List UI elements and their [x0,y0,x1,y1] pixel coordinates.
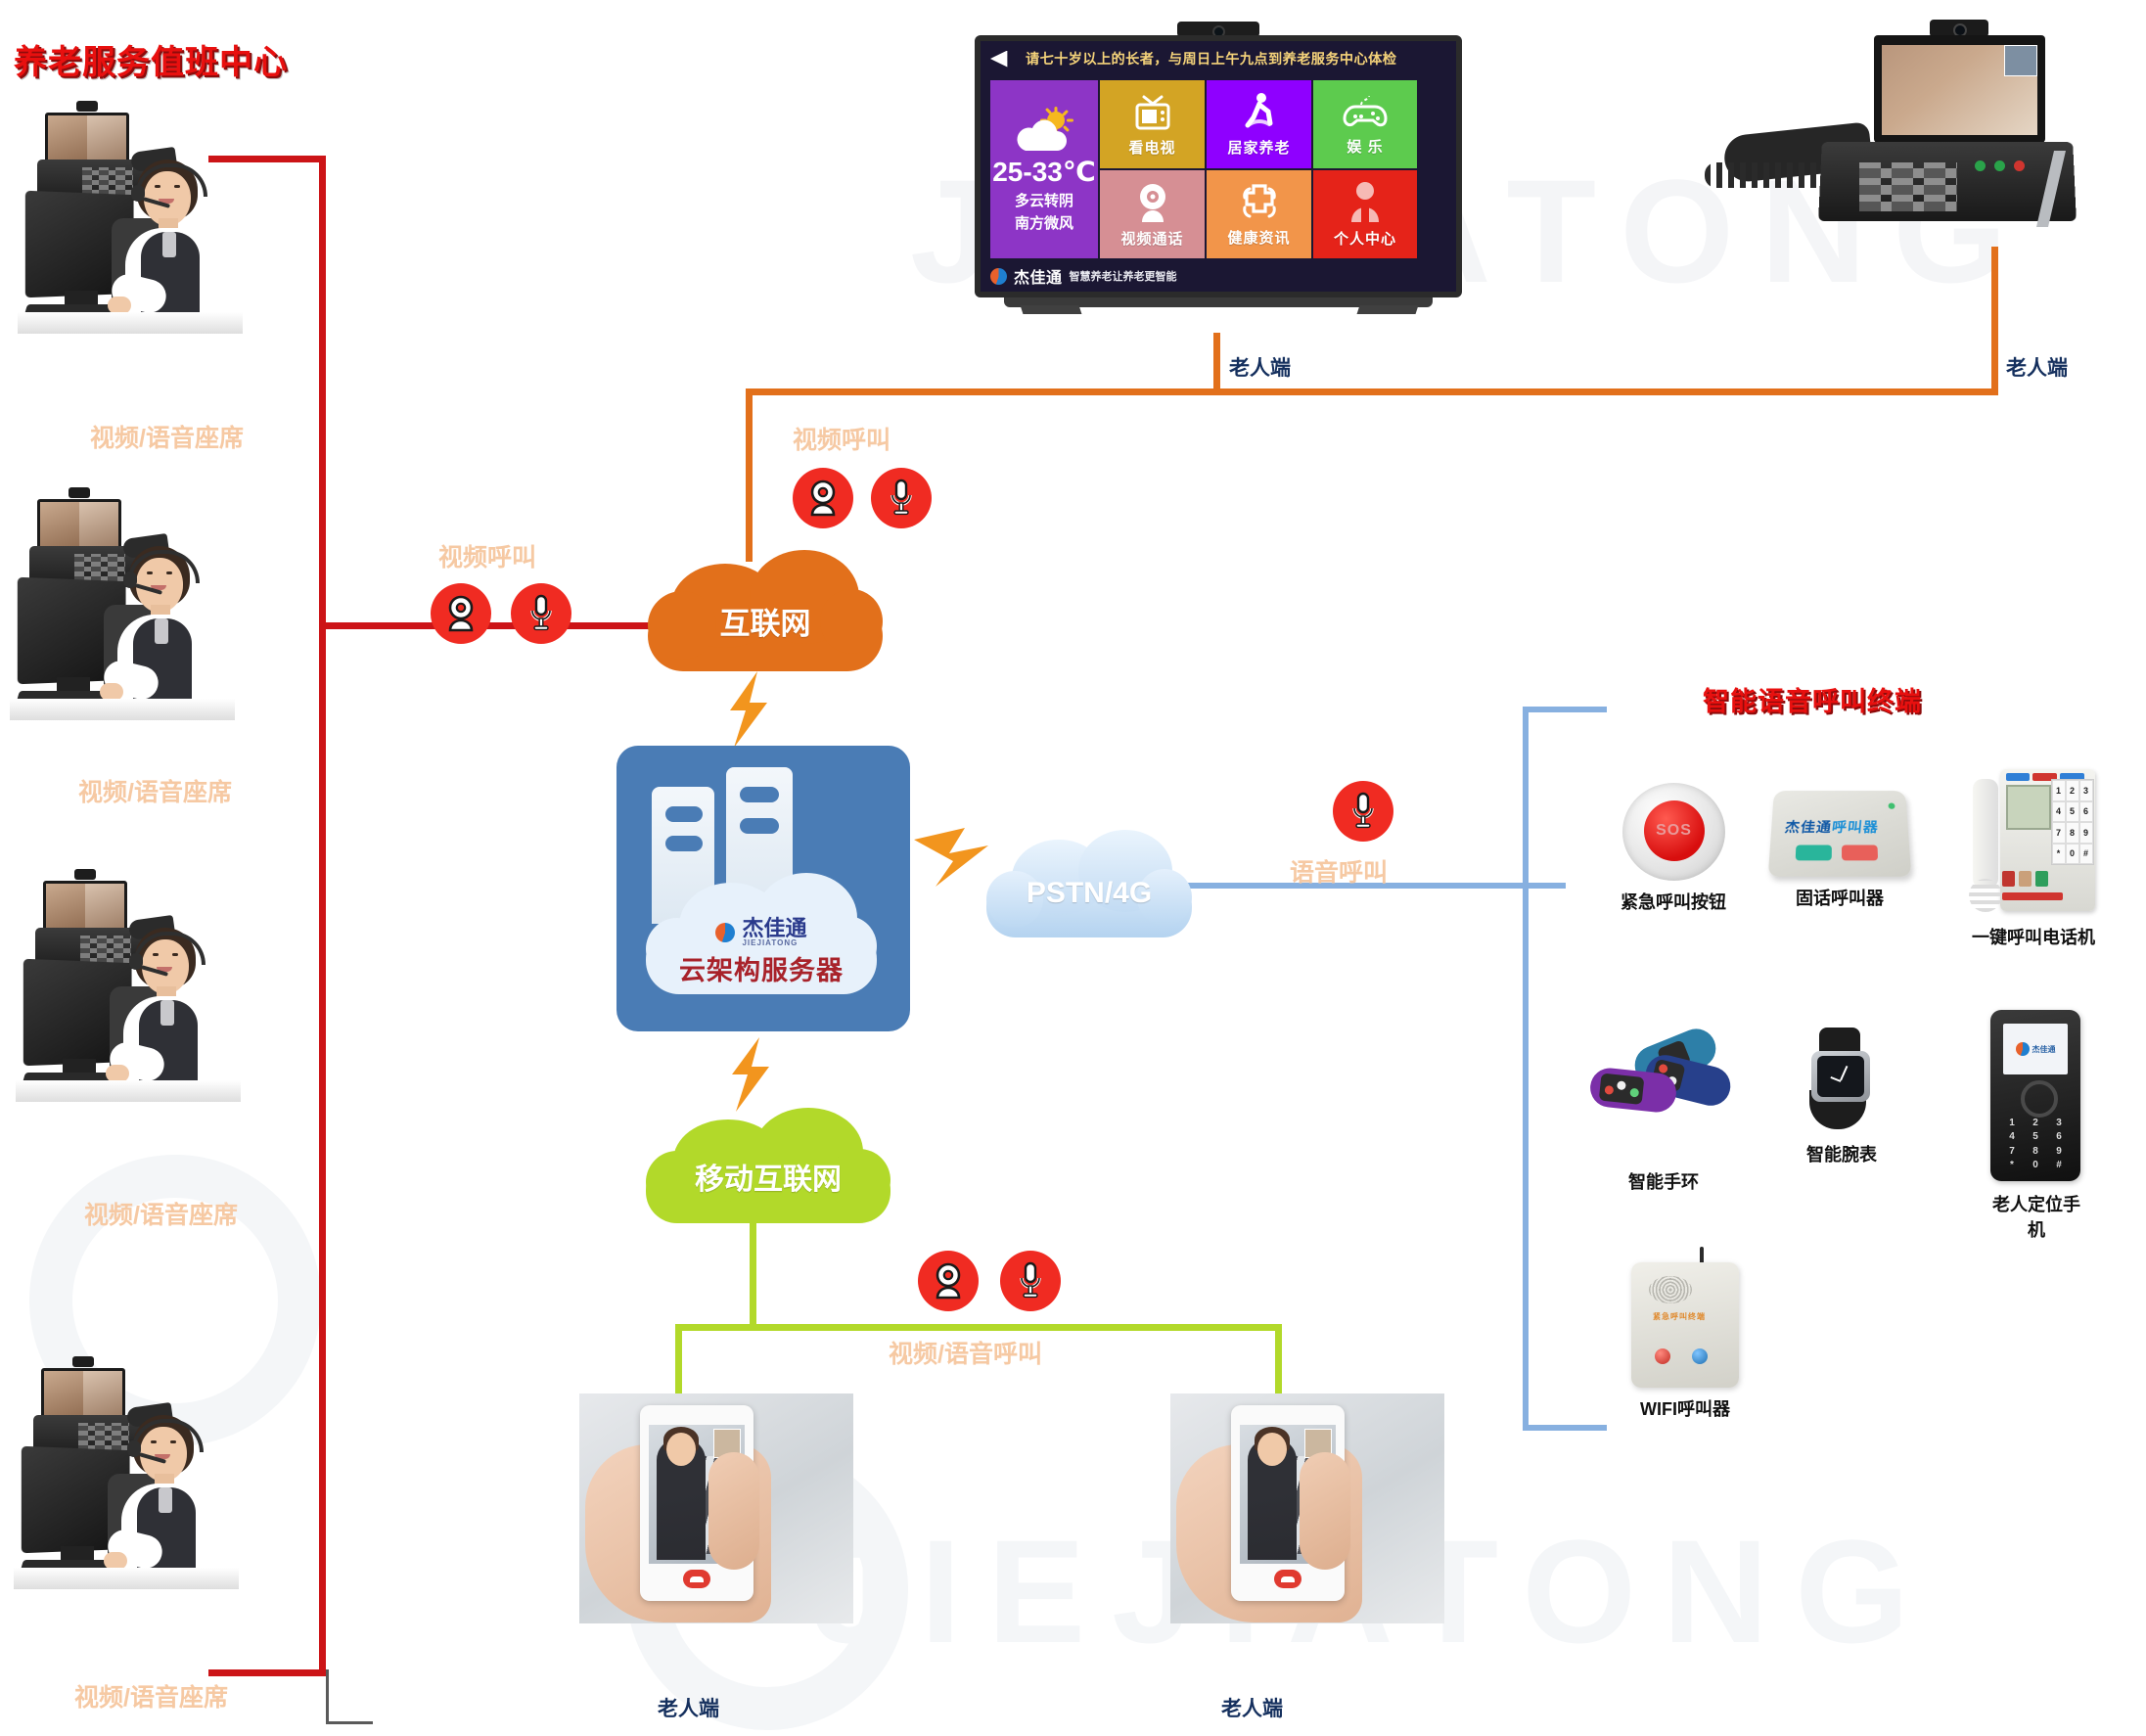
terminal-label: WIFI呼叫器 [1597,1395,1773,1421]
terminal-label: 紧急呼叫按钮 [1585,889,1761,914]
partly-cloudy-icon [1010,107,1078,154]
smart-watch-icon [1788,1028,1895,1135]
webcam-icon [931,1262,966,1300]
line-mobile-horizontal [675,1324,1282,1331]
tv-tile-weather[interactable]: 25-33℃ 多云转阴 南方微风 [990,80,1098,258]
microphone-badge-icon [511,583,571,644]
mobile-endpoint-photo [1170,1393,1444,1643]
line-seat-last-tick-foot [326,1721,373,1724]
terminal-senior-gps-phone[interactable]: 杰佳通 123456 789*0# 老人定位手机 [1973,1010,2100,1242]
voice-call-label: 语音呼叫 [1290,853,1388,889]
deskphone-endpoint-label: 老人端 [2006,352,2068,382]
agent-seat [18,103,243,352]
agent-seat-label: 视频/语音座席 [74,1678,228,1713]
agent-seat [16,871,241,1120]
terminal-label: 老人定位手机 [1987,1191,2085,1242]
line-terminals-bracket-top [1523,707,1607,712]
agent-seat-label: 视频/语音座席 [78,773,232,808]
line-seats-to-internet [319,622,681,629]
camera-icon [68,487,90,498]
microphone-icon [528,594,554,633]
mobile-endpoint-photo [579,1393,853,1643]
elderly-care-icon [1238,92,1281,133]
line-mobile-phone2-down [1275,1324,1282,1394]
health-cross-icon [1239,182,1280,223]
operator-avatar [106,928,241,1094]
microphone-badge-icon [1333,781,1393,842]
webcam-icon [1132,181,1173,224]
terminals-section-title: 智能语音呼叫终端 [1703,680,1922,718]
fixedline-caller-icon: 杰佳通呼叫器 [1768,791,1912,877]
video-phone-screen [1874,35,2045,143]
operator-avatar [100,546,235,712]
video-desk-phone [1712,14,2133,258]
tv-tile-label: 娱 乐 [1347,136,1383,157]
mobile-endpoint-label: 老人端 [658,1693,719,1722]
agent-seat-label: 视频/语音座席 [90,419,244,454]
weather-wind: 南方微风 [1015,212,1073,233]
microphone-icon [889,479,914,518]
one-key-phone-icon: 123456 789*0# [1973,769,2095,916]
tv-tile-label: 视频通话 [1120,228,1183,249]
lightning-bolt-icon [914,828,988,891]
terminal-emergency-button[interactable]: SOS 紧急呼叫按钮 [1585,783,1761,914]
tv-brand: 杰佳通 智慧养老让养老更智能 [990,264,1177,288]
microphone-badge-icon [1000,1251,1061,1311]
senior-gps-phone-icon: 杰佳通 123456 789*0# [1990,1010,2080,1181]
sos-button-icon: SOS [1622,783,1725,881]
video-voice-call-label: 视频/语音呼叫 [889,1335,1042,1370]
webcam-badge-icon [431,583,491,644]
gamepad-icon [1342,93,1389,132]
line-mobile-phone1-down [675,1324,682,1394]
tv-terminal: 请七十岁以上的长者，与周日上午九点到养老服务中心体检 [975,22,1462,333]
agent-seat [14,1358,239,1608]
tv-tile-label: 健康资讯 [1227,227,1290,248]
phone-brand: 杰佳通 [2032,1044,2056,1055]
tv-announcement-text: 请七十岁以上的长者，与周日上午九点到养老服务中心体检 [1026,49,1396,69]
tv-tile-personal-center[interactable]: 个人中心 [1313,170,1417,258]
tv-tile-entertainment[interactable]: 娱 乐 [1313,80,1417,168]
video-call-top-label: 视频呼叫 [793,421,890,456]
brand-logo-icon [990,268,1007,285]
terminal-smart-watch[interactable]: 智能腕表 [1754,1028,1930,1166]
person-icon [1348,181,1382,224]
tv-screen: 请七十岁以上的长者，与周日上午九点到养老服务中心体检 [981,41,1456,292]
tv-tile-video-call[interactable]: 视频通话 [1100,170,1205,258]
terminal-label: 一键呼叫电话机 [1945,924,2122,949]
tv-icon [1131,92,1174,133]
line-seats-vertical [319,156,326,1676]
camera-icon [74,869,96,880]
server-label: 云架构服务器 [646,949,877,987]
terminal-fixedline-caller[interactable]: 杰佳通呼叫器 固话呼叫器 [1752,787,1928,910]
keypad-icon [1859,162,1957,211]
weather-condition: 多云转阴 [1015,190,1073,210]
lightning-bolt-icon [724,671,783,748]
mobile-internet-cloud: 移动互联网 [646,1108,890,1227]
tv-tile-grid: 25-33℃ 多云转阴 南方微风 看电视 [990,80,1446,258]
tv-tile-label: 看电视 [1128,137,1175,158]
pstn-cloud-label: PSTN/4G [986,877,1192,910]
webcam-badge-icon [793,468,853,528]
line-terminals-bracket-bottom [1523,1425,1607,1431]
tv-tile-label: 居家养老 [1227,137,1290,158]
device-sub: 呼叫器 [1831,820,1879,836]
brand-name: 杰佳通 [1014,264,1063,288]
speaker-icon [1649,1276,1692,1303]
wifi-caller-icon: 紧急呼叫终端 [1631,1251,1739,1388]
keypad-icon: 123456 789*0# [2000,1116,2071,1172]
webcam-icon [443,595,479,632]
emergency-button[interactable] [1655,1348,1670,1364]
end-call-button[interactable] [1274,1570,1301,1588]
video-call-left-label: 视频呼叫 [438,538,536,573]
line-seat-last-tick [326,1669,329,1724]
cancel-button[interactable] [1692,1348,1708,1364]
sos-label: SOS [1644,800,1705,861]
tv-tile-watch-tv[interactable]: 看电视 [1100,80,1205,168]
terminal-one-key-phone[interactable]: 123456 789*0# 一键呼叫电话机 [1945,769,2122,949]
operator-avatar [108,160,243,326]
cloud-server-box: 杰佳通 JIEJIATONG 云架构服务器 [616,746,910,1031]
camera-icon [72,1356,94,1367]
webcam-badge-icon [918,1251,979,1311]
smart-band-icon [1590,1037,1737,1135]
tv-tile-home-care[interactable]: 居家养老 [1207,80,1311,168]
line-deskphone-down [1991,247,1998,391]
line-terminals-bracket-vertical [1523,707,1529,1431]
agent-seat [10,489,235,739]
terminal-label: 智能腕表 [1754,1141,1930,1166]
line-seat-last-horizontal [208,1669,326,1676]
agent-seat-label: 视频/语音座席 [84,1196,238,1231]
mobile-endpoint-label: 老人端 [1221,1693,1283,1722]
internet-cloud-label: 互联网 [648,599,883,643]
server-cloud-shape: 杰佳通 JIEJIATONG 云架构服务器 [646,873,877,996]
internet-cloud: 互联网 [648,550,883,677]
line-tv-down [1213,333,1220,391]
terminal-wifi-caller[interactable]: 紧急呼叫终端 WIFI呼叫器 [1597,1251,1773,1421]
server-brand-name-en: JIEJIATONG [742,939,806,947]
brand-slogan: 智慧养老让养老更智能 [1070,268,1177,284]
server-brand-name: 杰佳通 [742,918,806,939]
line-endpoints-horizontal [746,388,1998,395]
weather-temperature: 25-33℃ [992,156,1096,188]
device-brand: 杰佳通 [1784,820,1833,836]
network-topology-diagram: JIEJIATONG JIEJIATONG 养老服务值班中心 智能语音呼叫终端 [0,0,2146,1736]
microphone-icon [1018,1261,1043,1301]
megaphone-icon [990,51,1018,68]
line-internet-up [746,388,753,562]
mobile-internet-cloud-label: 移动互联网 [646,1155,890,1198]
pstn-4g-cloud: PSTN/4G [986,830,1192,941]
microphone-badge-icon [871,468,932,528]
operator-avatar [104,1415,239,1581]
keypad-icon: 123456 789*0# [2051,779,2094,865]
brand-logo-icon [715,923,735,942]
microphone-icon [1350,792,1376,831]
tv-announcement-bar: 请七十岁以上的长者，与周日上午九点到养老服务中心体检 [981,41,1456,76]
function-buttons [1975,160,2051,176]
terminal-label: 智能手环 [1575,1168,1752,1194]
terminal-smart-band[interactable]: 智能手环 [1575,1037,1752,1194]
dpad-icon [2021,1080,2058,1118]
end-call-button[interactable] [683,1570,710,1588]
terminal-label: 固话呼叫器 [1752,885,1928,910]
webcam-icon [805,480,841,517]
page-title: 养老服务值班中心 [14,35,288,83]
camera-icon [76,101,98,112]
tv-endpoint-label: 老人端 [1229,352,1291,382]
tv-tile-label: 个人中心 [1334,228,1396,249]
phone-cord-icon [1705,162,1832,188]
tv-tile-health-news[interactable]: 健康资讯 [1207,170,1311,258]
lightning-bolt-icon [726,1037,783,1112]
